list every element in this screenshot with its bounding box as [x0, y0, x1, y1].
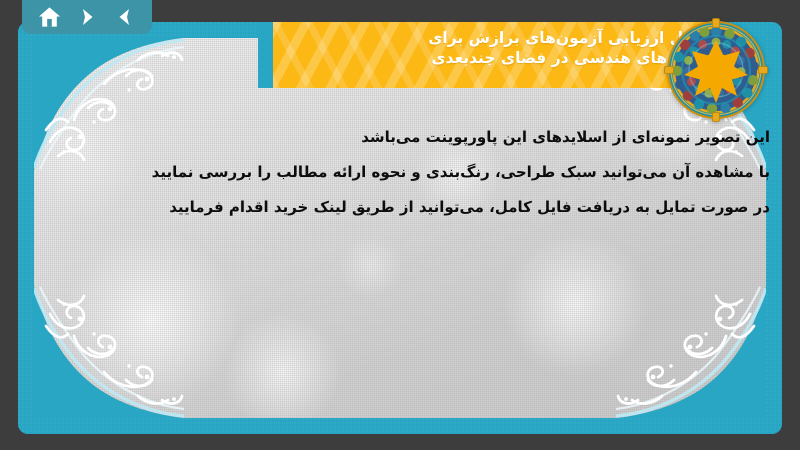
body-line-3: در صورت تمایل به دریافت فایل کامل، می‌تو…	[130, 200, 770, 216]
persian-medallion-ornament-icon	[664, 18, 768, 122]
body-line-2: با مشاهده آن می‌توانید سبک طراحی، رنگ‌بن…	[130, 165, 770, 181]
triangle-right-icon	[77, 7, 97, 27]
slide-body-text: این تصویر نمونه‌ای از اسلایدهای این پاور…	[130, 130, 770, 234]
home-icon	[38, 6, 61, 28]
banner-side-tab	[258, 22, 273, 88]
prev-slide-button[interactable]	[110, 4, 140, 30]
slide-title-line-1: کامل ارزیابی آزمون‌های برازش برای	[344, 28, 708, 48]
triangle-left-icon	[115, 7, 135, 27]
next-slide-button[interactable]	[72, 4, 102, 30]
navigation-bar	[22, 0, 152, 34]
home-button[interactable]	[34, 4, 64, 30]
slide-title-banner: کامل ارزیابی آزمون‌های برازش برای توزیع‌…	[272, 22, 722, 88]
body-line-1: این تصویر نمونه‌ای از اسلایدهای این پاور…	[130, 130, 770, 146]
slide-title-line-2: توزیع‌های هندسی در فضای چندبعدی	[344, 48, 708, 68]
slide-viewer: کامل ارزیابی آزمون‌های برازش برای توزیع‌…	[0, 0, 800, 450]
page-title: کامل ارزیابی آزمون‌های برازش برای توزیع‌…	[272, 22, 722, 69]
